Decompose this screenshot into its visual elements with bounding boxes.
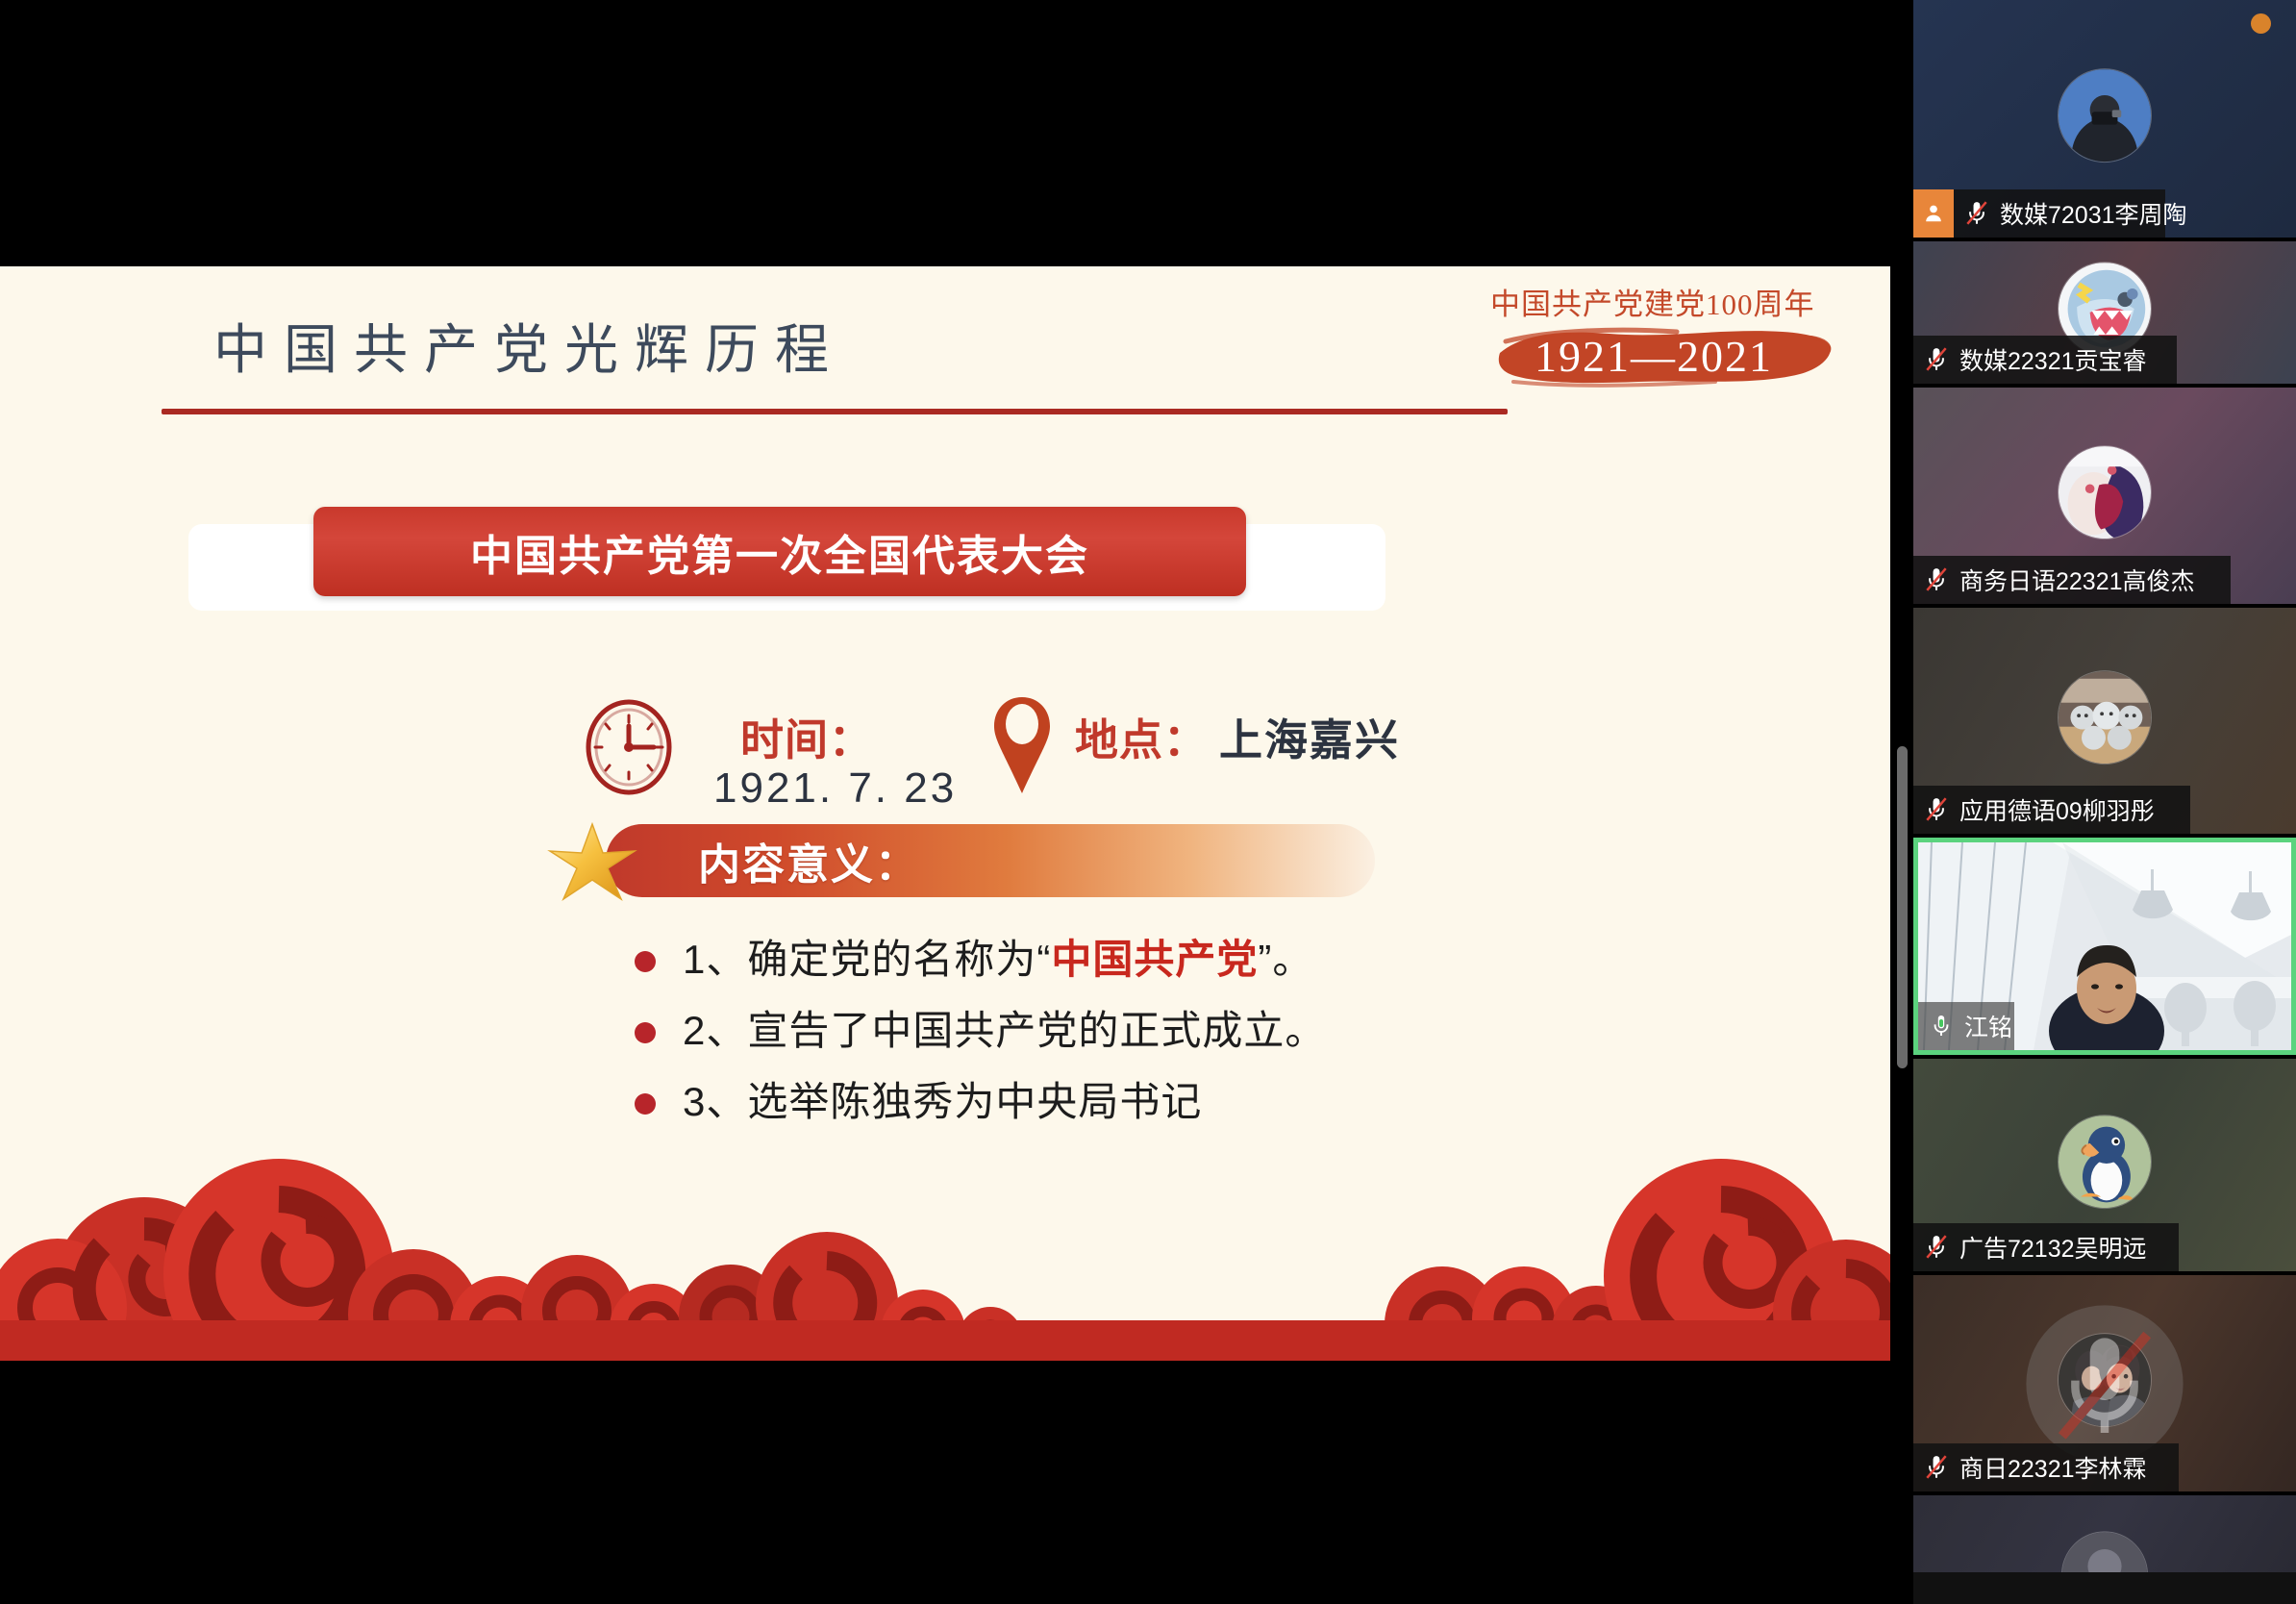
participant-tile[interactable]: 应用德语09柳羽彤 [1913, 608, 2296, 834]
mic-active-icon [1918, 1013, 1964, 1040]
mic-muted-icon [1913, 346, 1959, 373]
participant-namebar: 商日22321李林霖 [1913, 1443, 2179, 1491]
shared-screen-stage[interactable]: 中国共产党光辉历程 中国共产党建党100周年 1921—2021 [0, 0, 1890, 1604]
participant-tile[interactable]: 数媒22321贡宝睿 [1913, 241, 2296, 384]
section-header: 中国共产党第一次全国代表大会 [188, 507, 1385, 611]
vertical-scrollbar[interactable] [1890, 0, 1913, 1604]
scrollbar-thumb[interactable] [1897, 746, 1908, 1068]
participant-name: 广告72132吴明远 [1959, 1230, 2147, 1265]
anniversary-years: 1921—2021 [1485, 324, 1823, 388]
participant-namebar: 应用德语09柳羽彤 [1913, 786, 2190, 834]
content-banner-label: 内容意义： [698, 824, 919, 897]
place-label: 地点： [1075, 705, 1208, 767]
anniversary-badge: 中国共产党建党100周年 1921—2021 [1485, 280, 1840, 397]
participant-tile[interactable]: 数媒72031李周陶 [1913, 0, 2296, 238]
avatar [2058, 670, 2152, 764]
participant-namebar: 数媒72031李周陶 [1913, 189, 2165, 238]
mic-muted-icon [1913, 566, 1959, 593]
event-meta-row: 时间： 1921. 7. 23 地点： 上海嘉兴 [0, 689, 1890, 824]
section-header-pill: 中国共产党第一次全国代表大会 [313, 507, 1246, 596]
section-header-label: 中国共产党第一次全国代表大会 [470, 521, 1089, 583]
anniversary-caption: 中国共产党建党100周年 [1490, 280, 1815, 323]
participant-name: 应用德语09柳羽彤 [1959, 792, 2155, 827]
participant-tile[interactable] [1913, 1495, 2296, 1572]
slide-title: 中国共产党光辉历程 [213, 307, 845, 385]
mic-muted-icon [1913, 1234, 1959, 1261]
participant-tile[interactable]: 商日22321李林霖 [1913, 1275, 2296, 1491]
content-banner: 内容意义： [538, 820, 1385, 901]
bullet-dot-icon [635, 1022, 656, 1043]
participant-name: 江铭 [1964, 1009, 2012, 1043]
gold-star-icon [546, 820, 650, 907]
title-underline [162, 409, 1508, 414]
avatar [2058, 1115, 2152, 1209]
participant-rail[interactable]: 数媒72031李周陶 数媒22321贡宝睿 [1913, 0, 2296, 1604]
mic-muted-icon [1954, 200, 2000, 227]
host-badge-icon [1913, 189, 1954, 238]
presentation-slide[interactable]: 中国共产党光辉历程 中国共产党建党100周年 1921—2021 [0, 266, 1890, 1361]
map-pin-icon [990, 695, 1054, 795]
place-value: 上海嘉兴 [1219, 705, 1400, 767]
clock-icon [585, 699, 673, 795]
participant-name: 数媒72031李周陶 [2000, 196, 2187, 231]
participant-name: 商日22321李林霖 [1959, 1450, 2147, 1485]
bullet-dot-icon [635, 951, 656, 972]
participant-tile-active-speaker[interactable]: 江铭 [1913, 838, 2296, 1055]
self-status-dot-icon [2251, 13, 2271, 34]
avatar [2058, 445, 2152, 539]
participant-namebar: 数媒22321贡宝睿 [1913, 336, 2177, 384]
list-item: 2、宣告了中国共产党的正式成立。 [635, 1001, 1788, 1072]
participant-tile[interactable]: 商务日语22321高俊杰 [1913, 388, 2296, 604]
participant-namebar: 商务日语22321高俊杰 [1913, 556, 2231, 604]
participant-namebar: 广告72132吴明远 [1913, 1223, 2179, 1271]
bottom-red-band [0, 1320, 1890, 1361]
meeting-window: 中国共产党光辉历程 中国共产党建党100周年 1921—2021 [0, 0, 2296, 1604]
participant-namebar: 江铭 [1918, 1002, 2014, 1050]
time-label: 时间： [740, 705, 873, 767]
participant-name: 数媒22321贡宝睿 [1959, 342, 2147, 377]
participant-tile[interactable]: 广告72132吴明远 [1913, 1059, 2296, 1271]
list-item: 1、确定党的名称为“中国共产党”。 [635, 930, 1788, 1001]
avatar [2058, 68, 2152, 163]
mic-muted-icon [1913, 796, 1959, 823]
time-value: 1921. 7. 23 [713, 764, 957, 813]
large-mic-muted-overlay-icon [2023, 1302, 2186, 1466]
participant-name: 商务日语22321高俊杰 [1959, 563, 2195, 597]
bullet-text: 2、宣告了中国共产党的正式成立。 [683, 1001, 1326, 1061]
mic-muted-icon [1913, 1454, 1959, 1481]
bullet-text: 1、确定党的名称为“中国共产党”。 [683, 930, 1313, 990]
